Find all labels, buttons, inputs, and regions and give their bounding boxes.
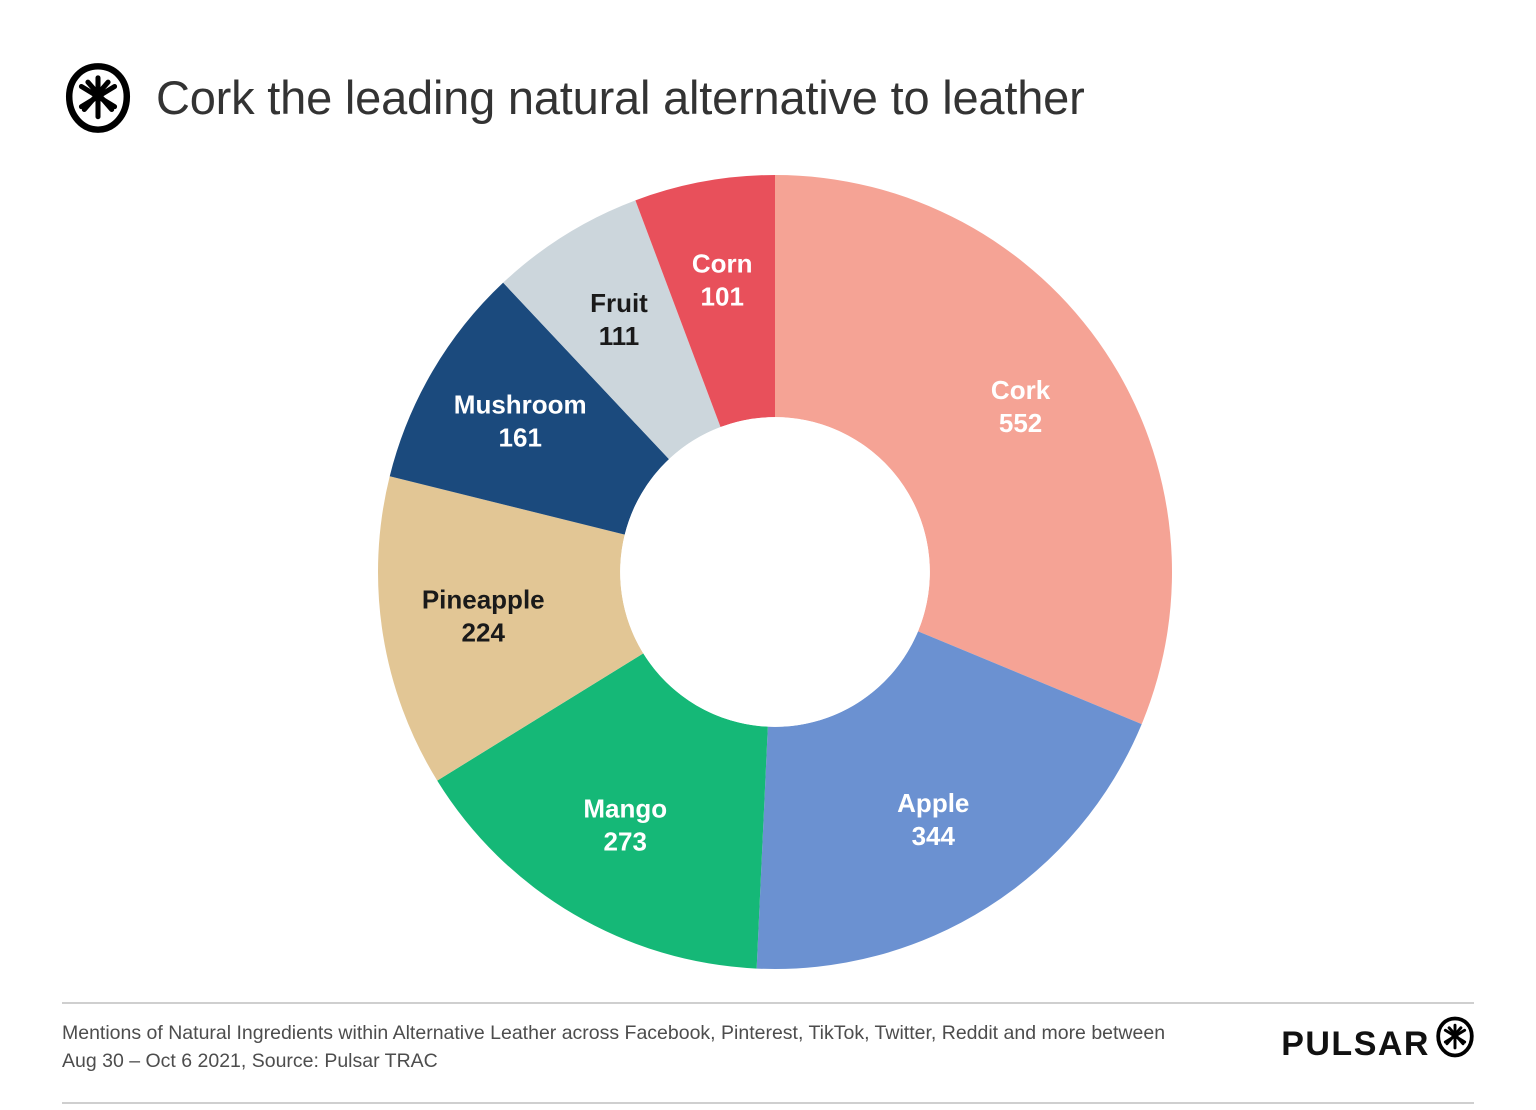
slice-label-value: 552: [999, 408, 1042, 438]
slice-label-name: Mushroom: [454, 390, 587, 420]
slice-label-name: Pineapple: [422, 584, 545, 614]
slice-label-name: Fruit: [590, 288, 648, 318]
slices-group: [378, 175, 1172, 969]
slice-label-value: 111: [599, 321, 640, 351]
slice-label-name: Mango: [583, 793, 667, 823]
slice-label-value: 273: [604, 826, 647, 856]
slice-label-value: 101: [701, 281, 744, 311]
chart-caption: Mentions of Natural Ingredients within A…: [62, 1020, 1292, 1075]
pulsar-logo: PULSAR: [1281, 1016, 1476, 1072]
caption-line-1: Mentions of Natural Ingredients within A…: [62, 1020, 1292, 1048]
footer: Mentions of Natural Ingredients within A…: [0, 1002, 1536, 1110]
donut-center-hole: [620, 417, 930, 727]
slice-label-name: Apple: [897, 788, 969, 818]
caption-line-2: Aug 30 – Oct 6 2021, Source: Pulsar TRAC: [62, 1048, 1292, 1076]
pulsar-asterisk-icon: [1434, 1016, 1476, 1058]
slice-label-value: 224: [462, 617, 506, 647]
donut-chart: Cork552Apple344Mango273Pineapple224Mushr…: [0, 0, 1536, 1010]
donut-chart-svg: Cork552Apple344Mango273Pineapple224Mushr…: [0, 0, 1536, 1010]
slice-label-name: Corn: [692, 248, 753, 278]
slice-label-name: Cork: [991, 375, 1051, 405]
slice-label-value: 161: [499, 423, 542, 453]
pulsar-wordmark: PULSAR: [1281, 1027, 1430, 1061]
footer-divider-bottom: [62, 1102, 1474, 1104]
footer-divider-top: [62, 1002, 1474, 1004]
slice-label-value: 344: [912, 821, 956, 851]
